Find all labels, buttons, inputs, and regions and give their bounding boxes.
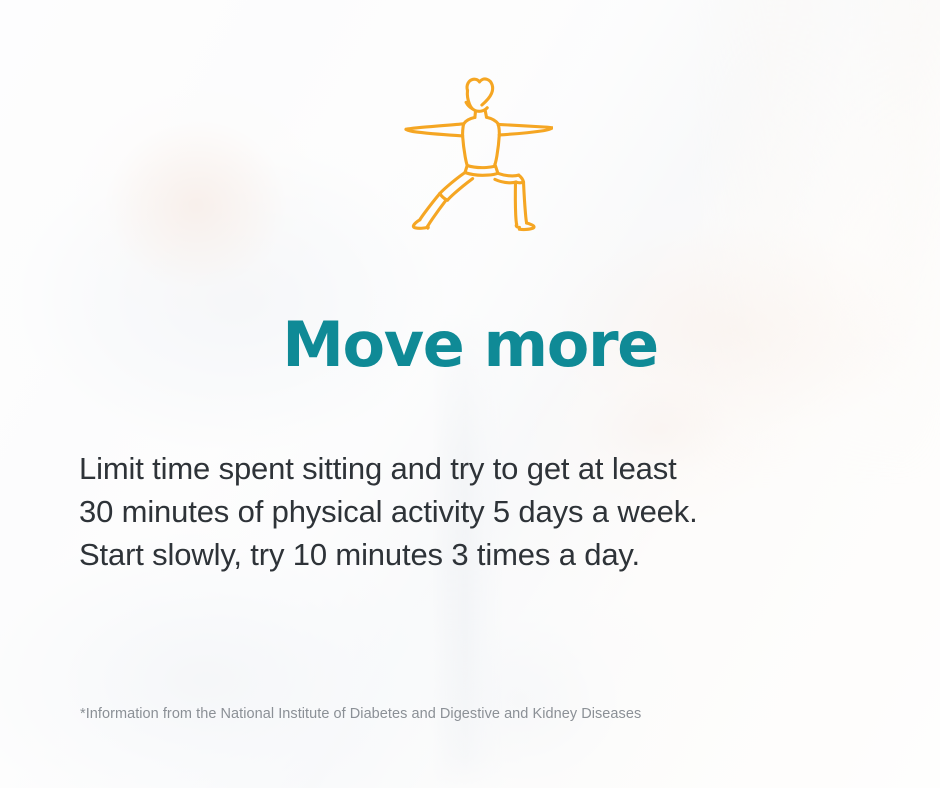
yoga-warrior-pose-icon (401, 64, 553, 232)
body-line: Start slowly, try 10 minutes 3 times a d… (79, 533, 879, 576)
body-line: Limit time spent sitting and try to get … (79, 447, 879, 490)
infographic-card: Move more Limit time spent sitting and t… (0, 0, 940, 788)
body-line: 30 minutes of physical activity 5 days a… (79, 490, 879, 533)
card-content: Move more Limit time spent sitting and t… (0, 0, 940, 788)
page-title: Move more (0, 314, 940, 376)
source-footnote: *Information from the National Institute… (80, 704, 641, 724)
body-copy: Limit time spent sitting and try to get … (79, 447, 879, 576)
